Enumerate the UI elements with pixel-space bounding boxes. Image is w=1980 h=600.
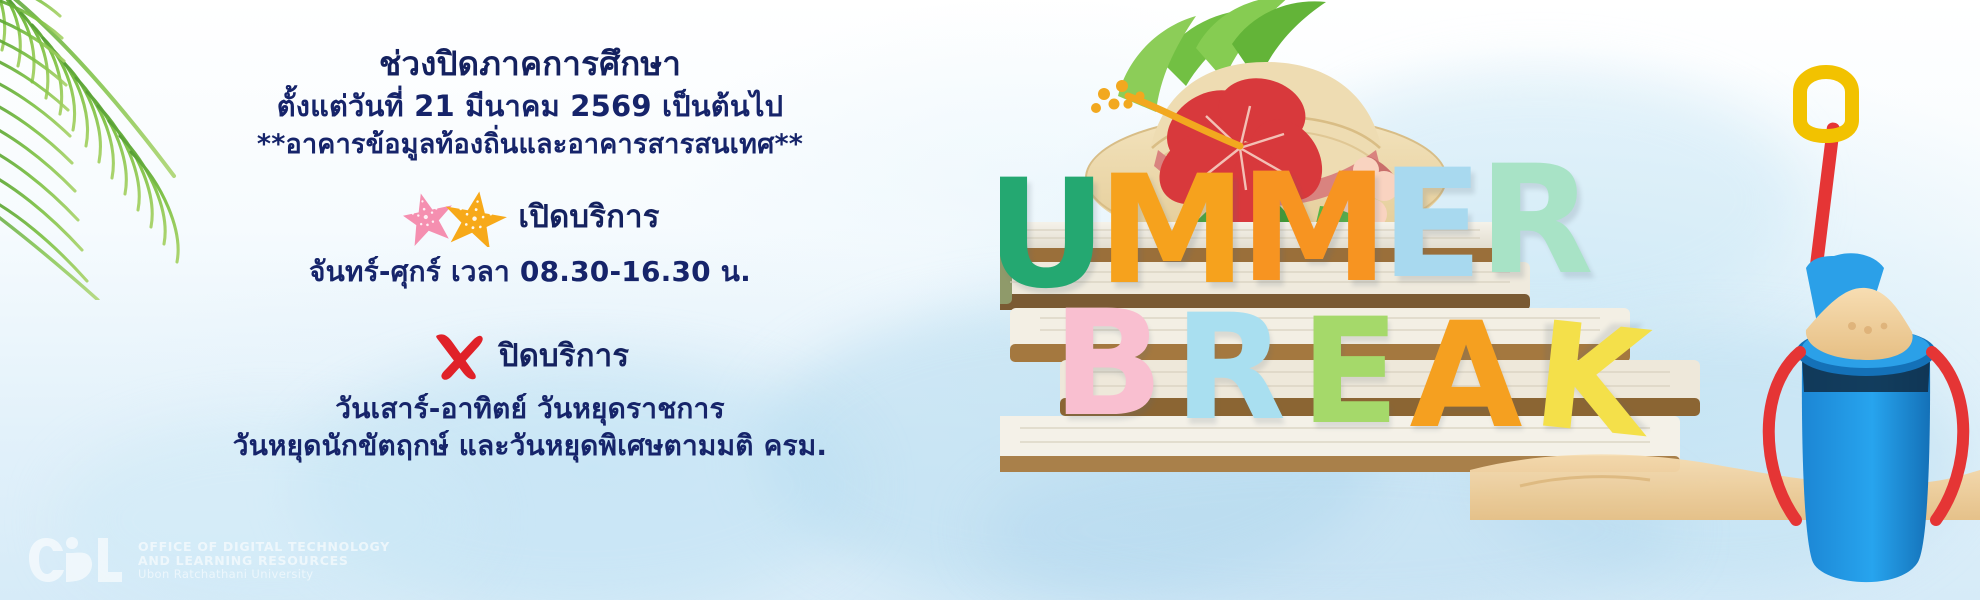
starfish-icons xyxy=(400,187,508,247)
odl-logo-text: OFFICE OF DIGITAL TECHNOLOGY AND LEARNIN… xyxy=(138,540,390,581)
open-hours: จันทร์-ศุกร์ เวลา 08.30-16.30 น. xyxy=(120,255,940,290)
red-x-icon xyxy=(431,330,489,382)
letter-E: E xyxy=(1381,138,1483,312)
starfish-pink-icon xyxy=(400,188,459,247)
closed-days-line-1: วันเสาร์-อาทิตย์ วันหยุดราชการ xyxy=(120,392,940,427)
sand-bucket-icon xyxy=(1769,288,1964,582)
logo-line-3: Ubon Ratchathani University xyxy=(138,568,390,581)
logo-line-2: AND LEARNING RESOURCES xyxy=(138,554,390,568)
summer-illustration: S UM ME R S U M M E R BR EA K B R E A K xyxy=(1000,0,1980,600)
effective-date: ตั้งแต่วันที่ 21 มีนาคม 2569 เป็นต้นไป xyxy=(120,89,940,125)
letter-A: A xyxy=(1410,291,1523,461)
closed-service-label: ปิดบริการ xyxy=(499,337,629,375)
odl-logo-mark xyxy=(28,534,124,586)
letter-K: K xyxy=(1526,290,1661,471)
open-service-label: เปิดบริการ xyxy=(518,198,659,236)
announcement-text-block: ช่วงปิดภาคการศึกษา ตั้งแต่วันที่ 21 มีนา… xyxy=(120,44,940,463)
open-service-group: เปิดบริการ จันทร์-ศุกร์ เวลา 08.30-16.30… xyxy=(120,187,940,290)
starfish-orange-icon xyxy=(440,187,508,247)
letter-B: B xyxy=(1052,279,1163,449)
odl-logo: OFFICE OF DIGITAL TECHNOLOGY AND LEARNIN… xyxy=(28,534,390,586)
letter-R: R xyxy=(1478,134,1594,308)
page-title: ช่วงปิดภาคการศึกษา xyxy=(120,44,940,85)
break-word: BR EA K B R E A K xyxy=(1052,279,1661,471)
logo-line-1: OFFICE OF DIGITAL TECHNOLOGY xyxy=(138,540,390,554)
letter-E2: E xyxy=(1300,287,1400,457)
closed-days-line-2: วันหยุดนักขัตฤกษ์ และวันหยุดพิเศษตามมติ … xyxy=(120,429,940,464)
location-note: **อาคารข้อมูลท้องถิ่นและอาคารสารสนเทศ** xyxy=(120,128,940,161)
summer-break-banner: ช่วงปิดภาคการศึกษา ตั้งแต่วันที่ 21 มีนา… xyxy=(0,0,1980,600)
closed-service-group: ปิดบริการ วันเสาร์-อาทิตย์ วันหยุดราชการ… xyxy=(120,330,940,463)
letter-R2: R xyxy=(1174,283,1286,453)
